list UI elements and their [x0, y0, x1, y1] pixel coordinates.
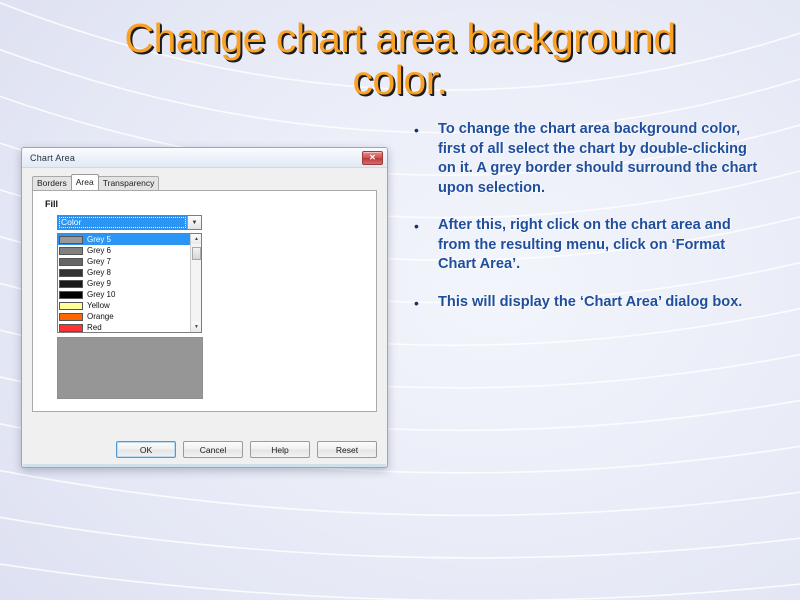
dialog-buttonbar: OK Cancel Help Reset [22, 441, 387, 458]
color-listbox[interactable]: Grey 5 Grey 6 Grey 7 Grey 8 Grey 9 [57, 233, 202, 333]
list-item[interactable]: Grey 7 [58, 256, 190, 267]
close-glyph: ✕ [369, 154, 376, 162]
color-name: Orange [87, 312, 114, 322]
scroll-down-icon[interactable]: ▼ [191, 322, 202, 332]
color-swatch [59, 236, 83, 244]
color-name: Yellow [87, 301, 110, 311]
color-list-scrollbar[interactable]: ▲ ▼ [190, 234, 201, 332]
slide-title: Change chart area background color. [40, 18, 760, 102]
color-swatch [59, 247, 83, 255]
list-item[interactable]: Yellow [58, 300, 190, 311]
reset-button[interactable]: Reset [317, 441, 377, 458]
color-name: Grey 5 [87, 235, 111, 245]
bullet-text: To change the chart area background colo… [438, 120, 760, 198]
close-icon[interactable]: ✕ [362, 151, 383, 165]
scroll-up-icon[interactable]: ▲ [191, 234, 202, 244]
fill-type-combobox[interactable]: Color ▼ [57, 215, 202, 230]
tab-area[interactable]: Area [71, 174, 99, 190]
dialog-title: Chart Area [30, 153, 75, 163]
help-button[interactable]: Help [250, 441, 310, 458]
color-name: Red [87, 323, 102, 333]
list-item[interactable]: Grey 5 [58, 234, 190, 245]
color-name: Grey 9 [87, 279, 111, 289]
fill-type-value[interactable]: Color [58, 216, 187, 229]
color-name: Grey 7 [87, 257, 111, 267]
list-item[interactable]: Orange [58, 311, 190, 322]
list-item[interactable]: Grey 9 [58, 278, 190, 289]
ok-button[interactable]: OK [116, 441, 176, 458]
tab-area-label: Area [76, 177, 94, 187]
tab-borders[interactable]: Borders [32, 176, 72, 190]
scrollbar-thumb[interactable] [192, 247, 201, 260]
bullet-item: • This will display the ‘Chart Area’ dia… [408, 293, 760, 313]
reset-button-label: Reset [336, 445, 358, 455]
cancel-button[interactable]: Cancel [183, 441, 243, 458]
color-swatch [59, 313, 83, 321]
color-swatch [59, 269, 83, 277]
dialog-titlebar[interactable]: Chart Area ✕ [22, 148, 387, 168]
bullet-marker: • [408, 120, 438, 198]
color-name: Grey 8 [87, 268, 111, 278]
chevron-down-icon[interactable]: ▼ [187, 216, 201, 229]
color-swatch [59, 324, 83, 332]
fill-preview [57, 337, 203, 399]
fill-group-label: Fill [45, 199, 58, 209]
dialog-footer-accent [23, 464, 386, 467]
color-name: Grey 6 [87, 246, 111, 256]
color-swatch [59, 258, 83, 266]
tab-transparency[interactable]: Transparency [98, 176, 160, 190]
list-item[interactable]: Grey 8 [58, 267, 190, 278]
bullet-item: • After this, right click on the chart a… [408, 216, 760, 275]
help-button-label: Help [271, 445, 288, 455]
color-name: Grey 10 [87, 290, 115, 300]
tab-borders-label: Borders [37, 178, 67, 188]
slide-body: • To change the chart area background co… [408, 120, 760, 331]
chart-area-dialog: Chart Area ✕ Borders Area Transparency F… [21, 147, 388, 468]
bullet-marker: • [408, 216, 438, 275]
list-item[interactable]: Grey 10 [58, 289, 190, 300]
color-swatch [59, 302, 83, 310]
cancel-button-label: Cancel [200, 445, 226, 455]
dialog-tabstrip: Borders Area Transparency [22, 174, 387, 190]
bullet-text: This will display the ‘Chart Area’ dialo… [438, 293, 760, 313]
bullet-marker: • [408, 293, 438, 313]
list-item[interactable]: Red [58, 322, 190, 333]
color-swatch [59, 280, 83, 288]
ok-button-label: OK [140, 445, 152, 455]
bullet-item: • To change the chart area background co… [408, 120, 760, 198]
bullet-text: After this, right click on the chart are… [438, 216, 760, 275]
color-list-items: Grey 5 Grey 6 Grey 7 Grey 8 Grey 9 [58, 234, 190, 332]
tab-transparency-label: Transparency [103, 178, 155, 188]
area-tab-panel: Fill Color ▼ Grey 5 Grey 6 Grey 7 [32, 190, 377, 412]
list-item[interactable]: Grey 6 [58, 245, 190, 256]
color-swatch [59, 291, 83, 299]
